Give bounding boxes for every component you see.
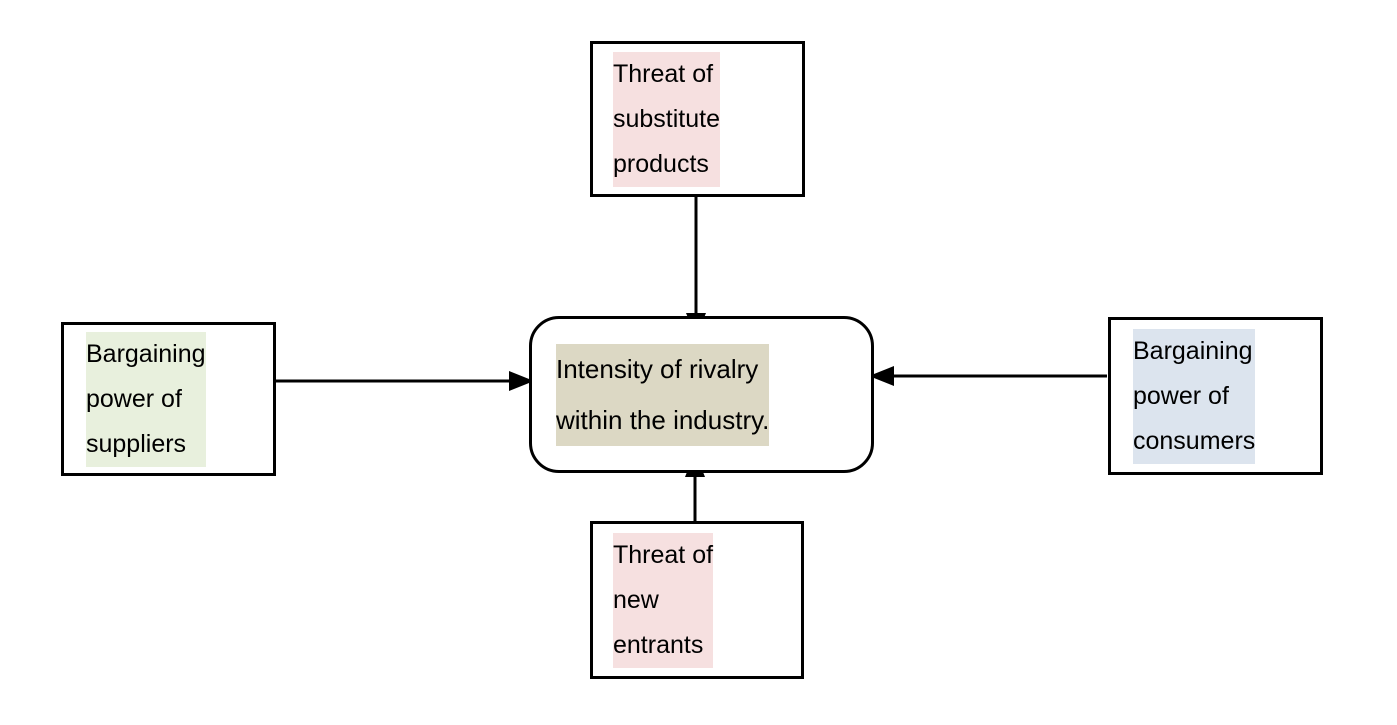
connector-right-to-center [869,366,1107,386]
node-threat-of-substitute-products-label: Threat of substitute products [613,52,720,187]
node-bargaining-power-of-consumers-label: Bargaining power of consumers [1133,329,1255,464]
node-threat-of-new-entrants-label: Threat of new entrants [613,533,713,668]
node-threat-of-new-entrants[interactable]: Threat of new entrants [590,521,804,679]
connector-left-to-center [276,371,534,391]
node-threat-of-substitute-products[interactable]: Threat of substitute products [590,41,805,197]
node-intensity-of-rivalry[interactable]: Intensity of rivalry within the industry… [529,316,874,473]
diagram-canvas: Threat of substitute products Bargaining… [0,0,1397,725]
node-bargaining-power-of-consumers[interactable]: Bargaining power of consumers [1108,317,1323,475]
node-intensity-of-rivalry-label: Intensity of rivalry within the industry… [556,344,769,446]
node-bargaining-power-of-suppliers[interactable]: Bargaining power of suppliers [61,322,276,476]
node-bargaining-power-of-suppliers-label: Bargaining power of suppliers [86,332,206,467]
